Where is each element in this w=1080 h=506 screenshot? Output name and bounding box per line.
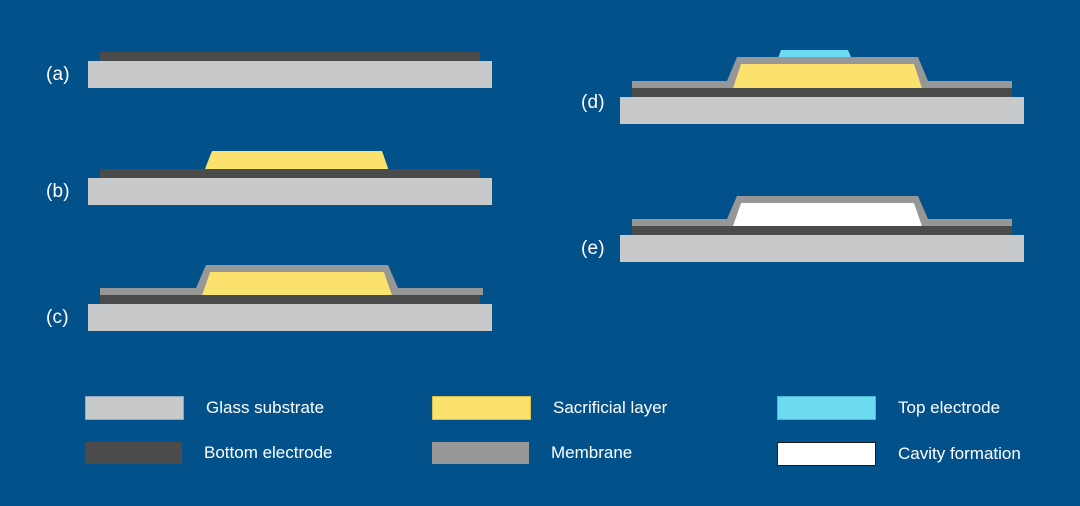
legend-item-membrane: Membrane (432, 442, 632, 464)
panel-e-bottom-electrode (632, 226, 1012, 235)
legend-item-cavity-formation: Cavity formation (777, 442, 1021, 466)
panel-c-bottom-electrode (100, 295, 480, 304)
legend-label-membrane: Membrane (551, 443, 632, 463)
panel-c-sacrificial-layer (202, 272, 392, 295)
panel-d-sacrificial-layer (733, 64, 922, 88)
legend-swatch-glass-substrate (85, 396, 184, 420)
fabrication-process-diagram (0, 0, 1080, 506)
legend-swatch-bottom-electrode (85, 442, 182, 464)
panel-b-glass-substrate (88, 178, 492, 205)
panel-a (88, 52, 492, 88)
panel-d-glass-substrate (620, 97, 1024, 124)
legend-label-bottom-electrode: Bottom electrode (204, 443, 333, 463)
panel-label-a: (a) (46, 64, 70, 86)
panel-label-d: (d) (581, 92, 605, 114)
panel-label-b: (b) (46, 181, 70, 203)
legend-item-bottom-electrode: Bottom electrode (85, 442, 333, 464)
legend-swatch-cavity-formation (777, 442, 876, 466)
panel-b-bottom-electrode (100, 169, 480, 178)
legend-swatch-membrane (432, 442, 529, 464)
legend-swatch-sacrificial-layer (432, 396, 531, 420)
legend-label-top-electrode: Top electrode (898, 398, 1000, 418)
legend-swatch-top-electrode (777, 396, 876, 420)
panel-e-cavity (733, 203, 922, 226)
legend-label-sacrificial-layer: Sacrificial layer (553, 398, 667, 418)
panel-e-glass-substrate (620, 235, 1024, 262)
legend-item-sacrificial-layer: Sacrificial layer (432, 396, 667, 420)
panel-c-glass-substrate (88, 304, 492, 331)
legend-label-cavity-formation: Cavity formation (898, 444, 1021, 464)
legend-item-glass-substrate: Glass substrate (85, 396, 324, 420)
panel-a-glass-substrate (88, 61, 492, 88)
panel-label-e: (e) (581, 238, 605, 260)
legend-item-top-electrode: Top electrode (777, 396, 1000, 420)
panel-d-bottom-electrode (632, 88, 1012, 97)
panel-label-c: (c) (46, 307, 69, 329)
legend-label-glass-substrate: Glass substrate (206, 398, 324, 418)
panel-a-bottom-electrode (100, 52, 480, 61)
